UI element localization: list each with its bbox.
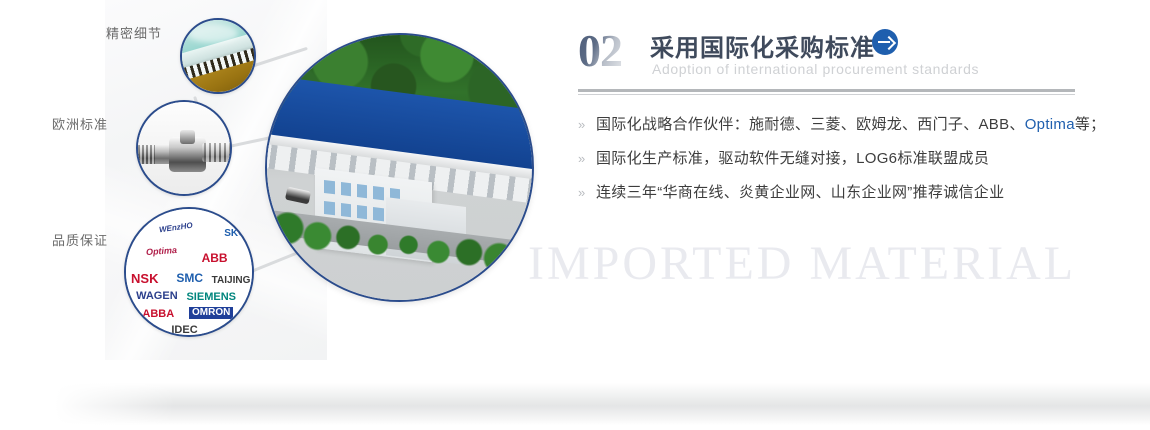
list-item-text: 连续三年“华商在线、炎黄企业网、山东企业网”推荐诚信企业 (596, 182, 1004, 204)
window (340, 183, 350, 197)
blade-highlight (188, 24, 238, 43)
chevron-double-right-icon: » (578, 148, 596, 170)
window (373, 187, 383, 201)
divider-thick (578, 89, 1075, 92)
highlight-brand: Optima (1025, 116, 1075, 133)
divider-thin (578, 94, 1075, 95)
list-item: » 国际化战略合作伙伴：施耐德、三菱、欧姆龙、西门子、ABB、Optima等； (578, 114, 1098, 136)
bullet-list: » 国际化战略合作伙伴：施耐德、三菱、欧姆龙、西门子、ABB、Optima等； … (578, 114, 1098, 216)
chevron-double-right-icon: » (578, 114, 596, 136)
quality-brands-bubble: WEnzHOSKOOptimaABBNSKSMCTAIJINGWAGENSIEM… (124, 207, 254, 337)
section-number: 02 (578, 24, 622, 77)
brand-logo-siemens: SIEMENS (186, 292, 236, 303)
european-standard-bubble (136, 100, 232, 196)
screw-thread (204, 143, 232, 161)
brand-logo-omron: OMRON (189, 307, 233, 319)
label-european-standard: 欧洲标准 (52, 114, 108, 133)
promo-banner: 精密细节 欧洲标准 品质保证 WEnzHOSKOOptimaABBNSKSMCT… (0, 0, 1150, 430)
window (324, 181, 334, 195)
list-item: » 国际化生产标准，驱动软件无缝对接，LOG6标准联盟成员 (578, 148, 1098, 170)
brand-logo-optima: Optima (146, 246, 178, 257)
label-quality-assurance: 品质保证 (52, 230, 108, 249)
brand-logo-abb: ABB (202, 252, 228, 264)
factory-aerial-photo (265, 33, 534, 302)
screw-ridges (136, 145, 155, 163)
brand-logo-taijing: TAIJING (212, 276, 251, 286)
content-column: 02 采用国际化采购标准 Adoption of international p… (578, 0, 1098, 430)
section-title: 采用国际化采购标准 (650, 28, 875, 63)
brand-logo-abba: ABBA (142, 309, 174, 320)
brand-logo-wagen: WAGEN (136, 291, 178, 302)
precision-detail-bubble (180, 18, 256, 94)
window (357, 185, 367, 199)
list-item: » 连续三年“华商在线、炎黄企业网、山东企业网”推荐诚信企业 (578, 182, 1098, 204)
screw-nut-top (180, 130, 195, 145)
bottom-divider-band (55, 383, 1150, 425)
brand-logo-smc: SMC (176, 272, 203, 284)
watermark-text: IMPORTED MATERIAL (528, 236, 1076, 291)
section-subtitle: Adoption of international procurement st… (652, 61, 979, 77)
list-item-text: 国际化战略合作伙伴：施耐德、三菱、欧姆龙、西门子、ABB、Optima等； (596, 114, 1105, 136)
chevron-double-right-icon: » (578, 182, 596, 204)
brand-logo-sko: SKO (224, 229, 246, 239)
brand-logo-nsk: NSK (131, 272, 158, 285)
brand-logo-idec: IDEC (171, 325, 197, 336)
list-item-text: 国际化生产标准，驱动软件无缝对接，LOG6标准联盟成员 (596, 148, 989, 170)
label-precision-detail: 精密细节 (106, 23, 162, 42)
arrow-right-circle-icon[interactable] (872, 29, 898, 55)
